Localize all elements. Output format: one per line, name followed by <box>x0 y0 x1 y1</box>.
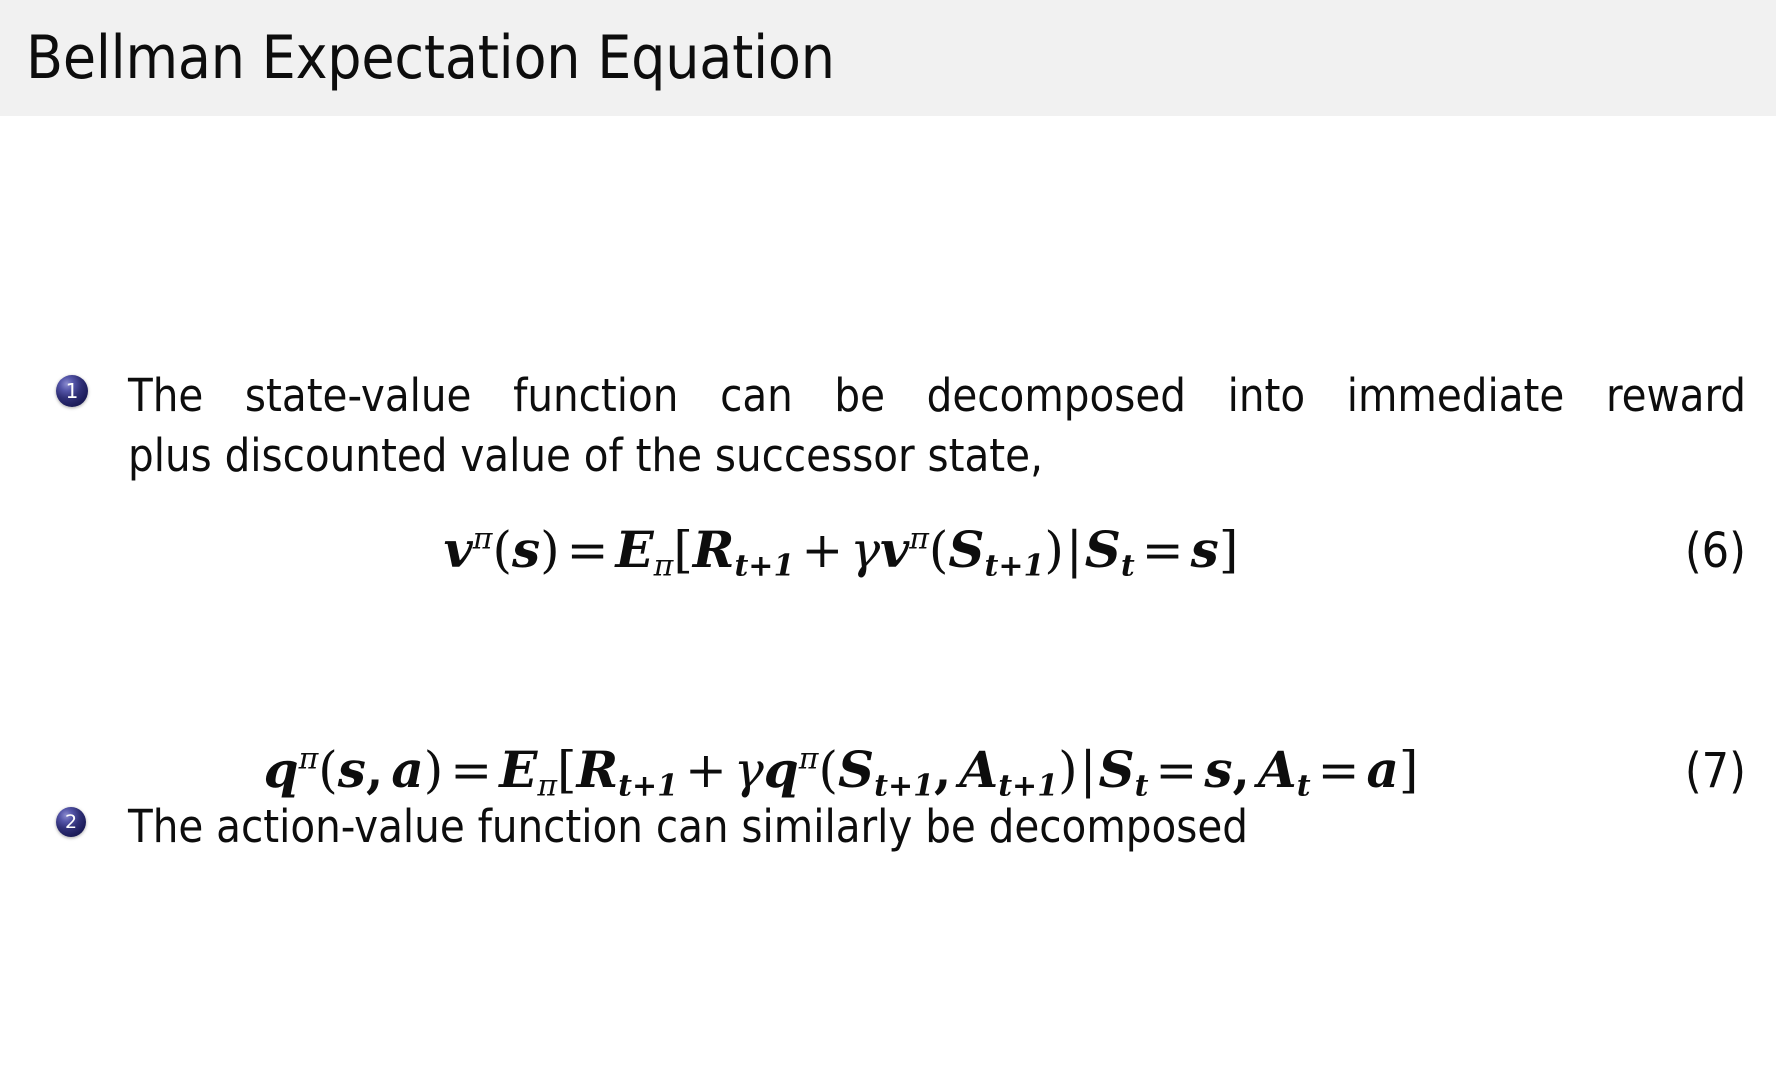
equation-bellman-state-value: vπ(s)=Eπ[Rt+1+γvπ(St+1)|St=s] <box>56 520 1626 579</box>
equation-bellman-action-value: qπ(s,a)=Eπ[Rt+1+γqπ(St+1,At+1)|St=s,At=a… <box>56 740 1626 799</box>
list-item-line: plus discounted value of the successor s… <box>128 426 1746 486</box>
list-item-text: The state-value function can be decompos… <box>128 366 1746 487</box>
equation-row: vπ(s)=Eπ[Rt+1+γvπ(St+1)|St=s] (6) <box>56 520 1746 579</box>
list-item-line: The state-value function can be decompos… <box>128 366 1746 426</box>
enumerate-bullet-2: 2 <box>56 807 86 837</box>
equation-number: (6) <box>1626 523 1746 579</box>
slide-body: 1 The state-value function can be decomp… <box>0 116 1776 1080</box>
list-item: 2 The action-value function can similarl… <box>56 797 1746 857</box>
equation-row: qπ(s,a)=Eπ[Rt+1+γqπ(St+1,At+1)|St=s,At=a… <box>56 740 1746 799</box>
enumerate-bullet-1: 1 <box>56 375 88 407</box>
equation-number: (7) <box>1626 743 1746 799</box>
slide-header: Bellman Expectation Equation <box>0 0 1776 116</box>
page-title: Bellman Expectation Equation <box>26 28 835 88</box>
list-item: 1 The state-value function can be decomp… <box>56 366 1746 487</box>
slide: Bellman Expectation Equation 1 The state… <box>0 0 1776 1080</box>
list-item-line: The action-value function can similarly … <box>128 797 1746 857</box>
list-item-text: The action-value function can similarly … <box>128 797 1746 857</box>
